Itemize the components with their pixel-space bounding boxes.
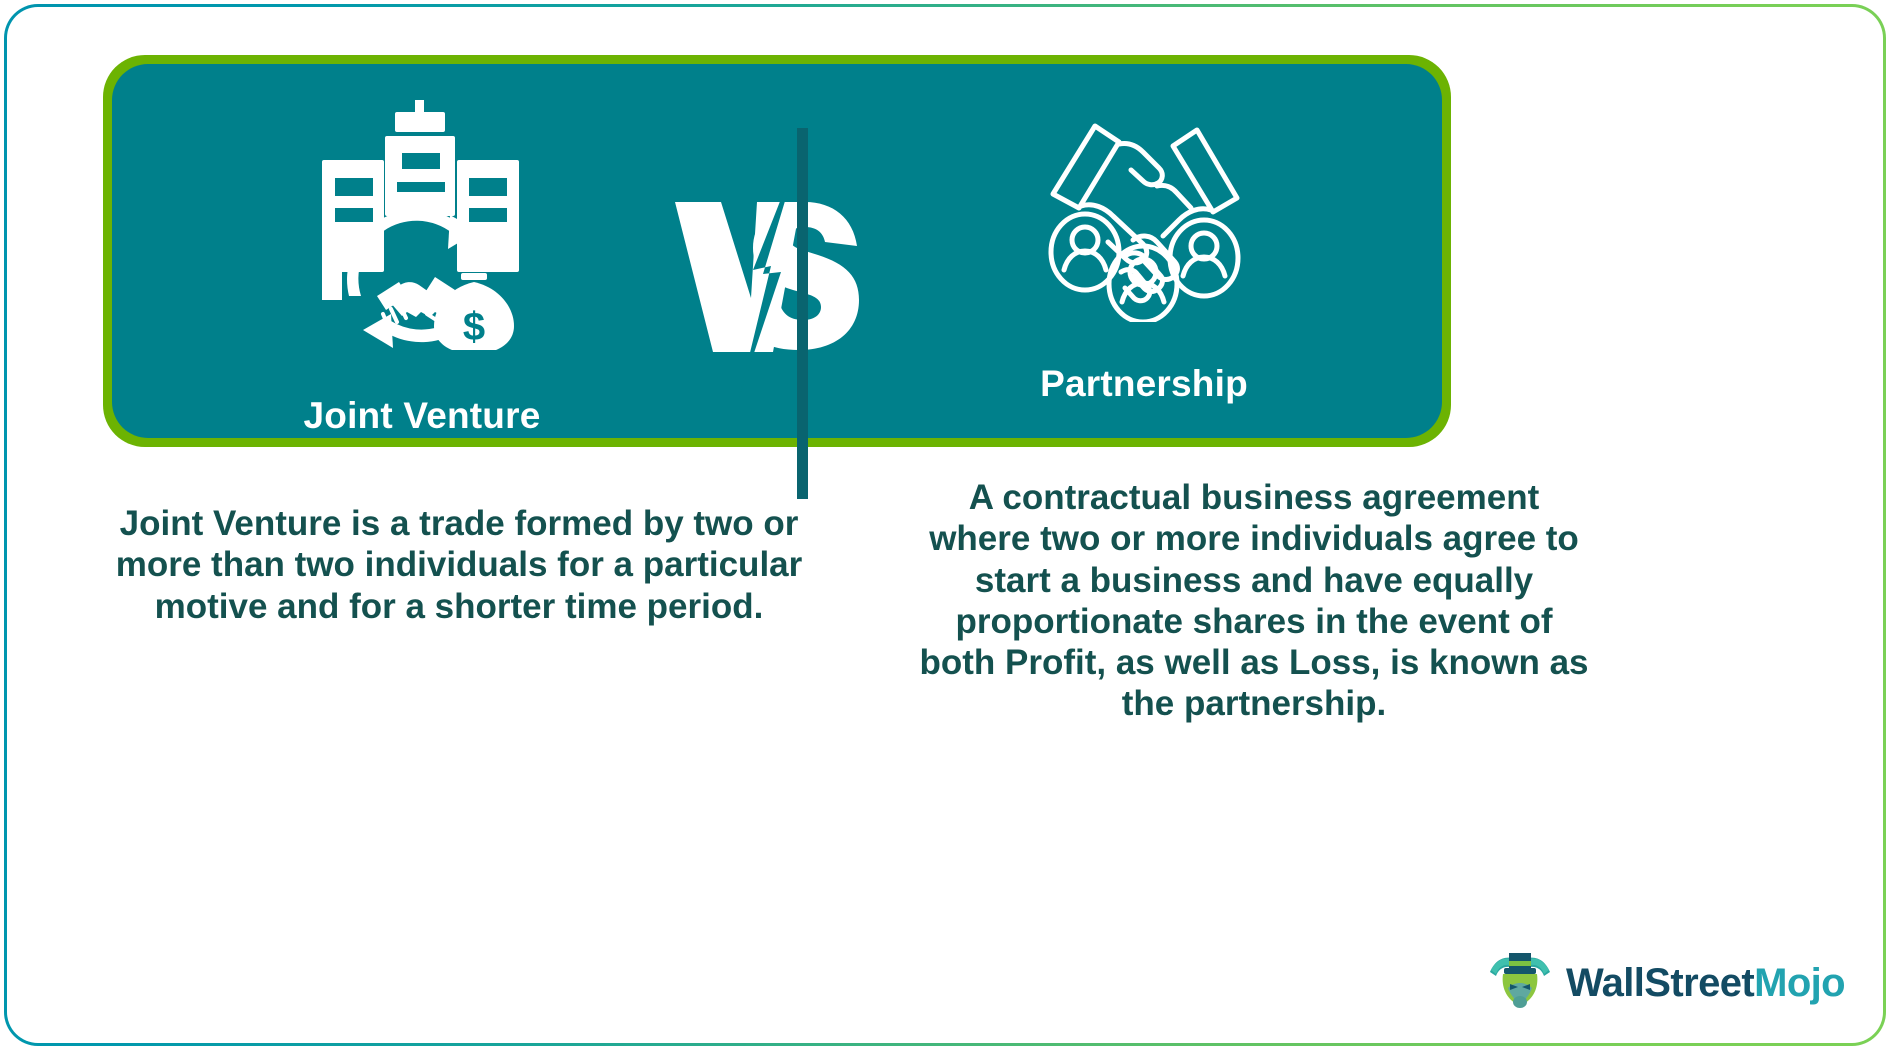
hero-label-partnership: Partnership — [1040, 363, 1248, 405]
partnership-description: A contractual business agreement where t… — [915, 477, 1593, 725]
comparison-column-partnership: A contractual business agreement where t… — [915, 477, 1593, 725]
versus-lightning-icon — [667, 148, 887, 398]
page-frame: $ Joint Venture — [4, 4, 1886, 1046]
hero-banner: $ Joint Venture — [112, 64, 1442, 438]
bull-with-top-hat-logo-icon — [1486, 948, 1554, 1019]
comparison-divider — [797, 128, 808, 499]
joint-venture-description: Joint Venture is a trade formed by two o… — [103, 477, 815, 627]
hero-banner-outline: $ Joint Venture — [103, 55, 1451, 447]
comparison-section: Joint Venture is a trade formed by two o… — [103, 477, 1793, 817]
hero-label-joint-venture: Joint Venture — [304, 395, 541, 437]
partnership-handshake-people-icon — [1037, 112, 1252, 327]
hero-column-joint-venture: $ Joint Venture — [142, 64, 702, 438]
brand-word-part1: WallStreet — [1566, 961, 1754, 1005]
brand-wordmark: WallStreetMojo — [1566, 961, 1845, 1006]
page-inner: $ Joint Venture — [7, 7, 1883, 1043]
hero-column-partnership: Partnership — [864, 64, 1424, 438]
comparison-column-joint-venture: Joint Venture is a trade formed by two o… — [103, 477, 815, 627]
brand-logo[interactable]: WallStreetMojo — [1486, 948, 1845, 1019]
joint-venture-icon: $ — [307, 100, 537, 355]
svg-text:$: $ — [463, 305, 485, 349]
brand-word-part2: Mojo — [1754, 961, 1845, 1005]
